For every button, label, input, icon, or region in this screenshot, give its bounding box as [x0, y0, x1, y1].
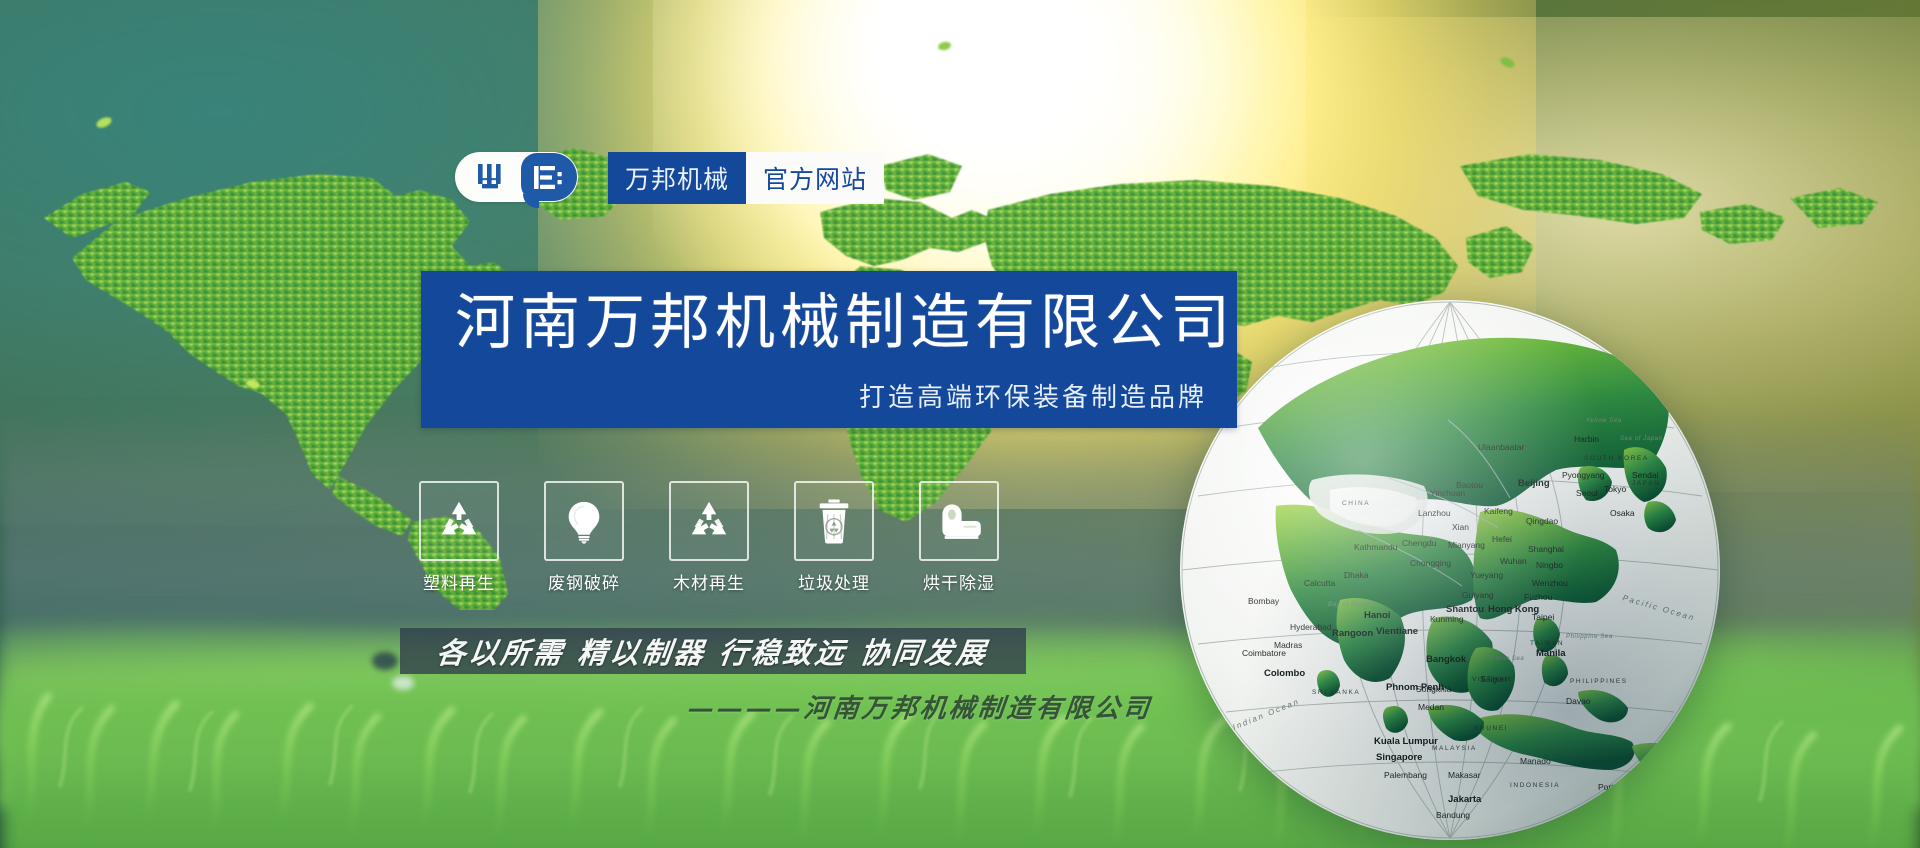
logo-b-glyph	[533, 165, 565, 190]
headline-panel: 河南万邦机械制造有限公司 打造高端环保装备制造品牌	[421, 271, 1237, 428]
brand-tabs: 万邦机械 官方网站	[608, 152, 884, 204]
service-item-drying-dehumidify[interactable]: 烘干除湿	[921, 481, 997, 594]
service-label: 木材再生	[673, 569, 745, 594]
service-label: 垃圾处理	[798, 569, 870, 594]
service-label: 烘干除湿	[923, 569, 995, 594]
lightbulb-icon	[561, 498, 607, 544]
slogan-signature: ————河南万邦机械制造有限公司	[658, 688, 1182, 725]
service-icon-box	[794, 481, 874, 561]
service-item-wood-recycling[interactable]: 木材再生	[671, 481, 747, 594]
service-item-steel-crushing[interactable]: 废钢破碎	[546, 481, 622, 594]
slogan-text: 各以所需 精以制器 行稳致远 协同发展	[435, 630, 991, 672]
slogan-bar: 各以所需 精以制器 行稳致远 协同发展	[400, 628, 1026, 674]
service-icon-box	[544, 481, 624, 561]
page-title: 河南万邦机械制造有限公司	[455, 291, 1235, 354]
logo-w-glyph	[477, 163, 513, 191]
service-icon-box	[419, 481, 499, 561]
hero-content: 万邦机械 官方网站 河南万邦机械制造有限公司 打造高端环保装备制造品牌	[0, 0, 1920, 848]
brand-header: 万邦机械 官方网站	[455, 152, 884, 204]
brand-tab-official-site[interactable]: 官方网站	[746, 152, 884, 204]
service-label: 塑料再生	[423, 569, 495, 594]
dryer-blower-icon	[935, 501, 983, 541]
brand-tab-company[interactable]: 万邦机械	[608, 152, 746, 204]
recycle-icon	[686, 498, 732, 544]
trash-bin-recycle-icon	[813, 498, 855, 544]
recycle-icon	[436, 498, 482, 544]
page-subtitle: 打造高端环保装备制造品牌	[859, 377, 1207, 414]
wanbang-wb-logo-icon[interactable]	[455, 152, 578, 202]
service-icon-box	[919, 481, 999, 561]
hero-banner: CHINA VIETNAM PHILIPPINES MALAYSIA INDON…	[0, 0, 1920, 848]
service-item-plastic-recycling[interactable]: 塑料再生	[421, 481, 497, 594]
service-item-waste-treatment[interactable]: 垃圾处理	[796, 481, 872, 594]
service-icon-row: 塑料再生 废钢破碎	[421, 481, 997, 594]
service-icon-box	[669, 481, 749, 561]
service-label: 废钢破碎	[548, 569, 620, 594]
